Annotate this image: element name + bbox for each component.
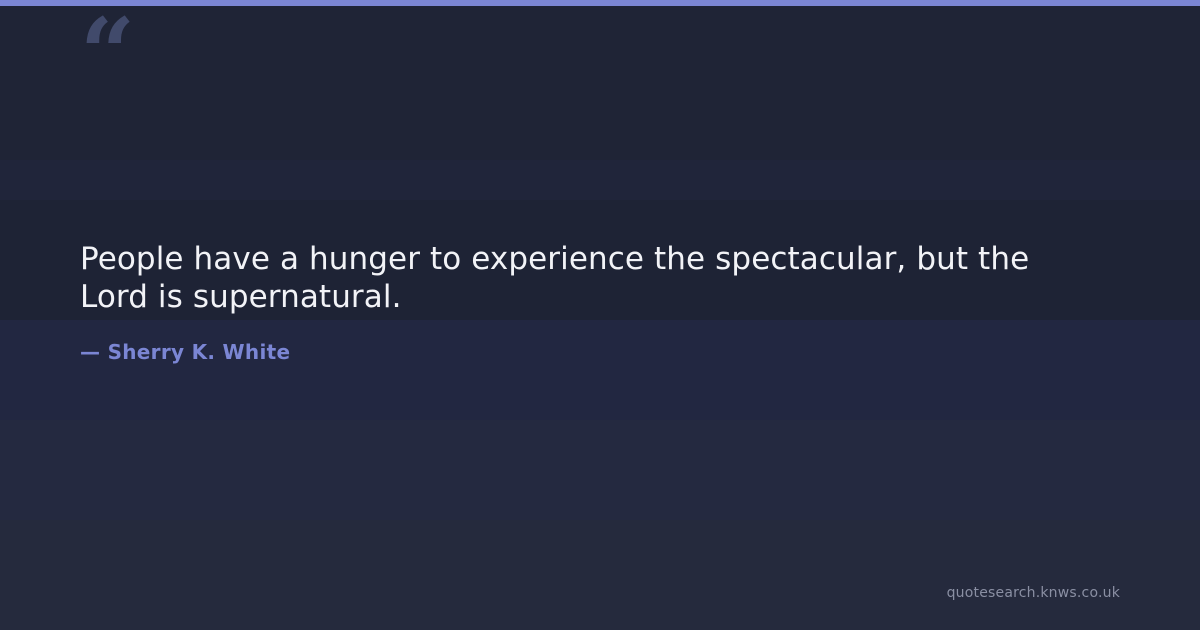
- quote-text: People have a hunger to experience the s…: [80, 240, 1070, 316]
- site-watermark: quotesearch.knws.co.uk: [947, 584, 1120, 602]
- quote-block: People have a hunger to experience the s…: [80, 240, 1120, 316]
- quote-card: “ People have a hunger to experience the…: [0, 0, 1200, 630]
- opening-quotation-mark-icon: “: [80, 6, 200, 102]
- quote-attribution: — Sherry K. White: [80, 338, 290, 366]
